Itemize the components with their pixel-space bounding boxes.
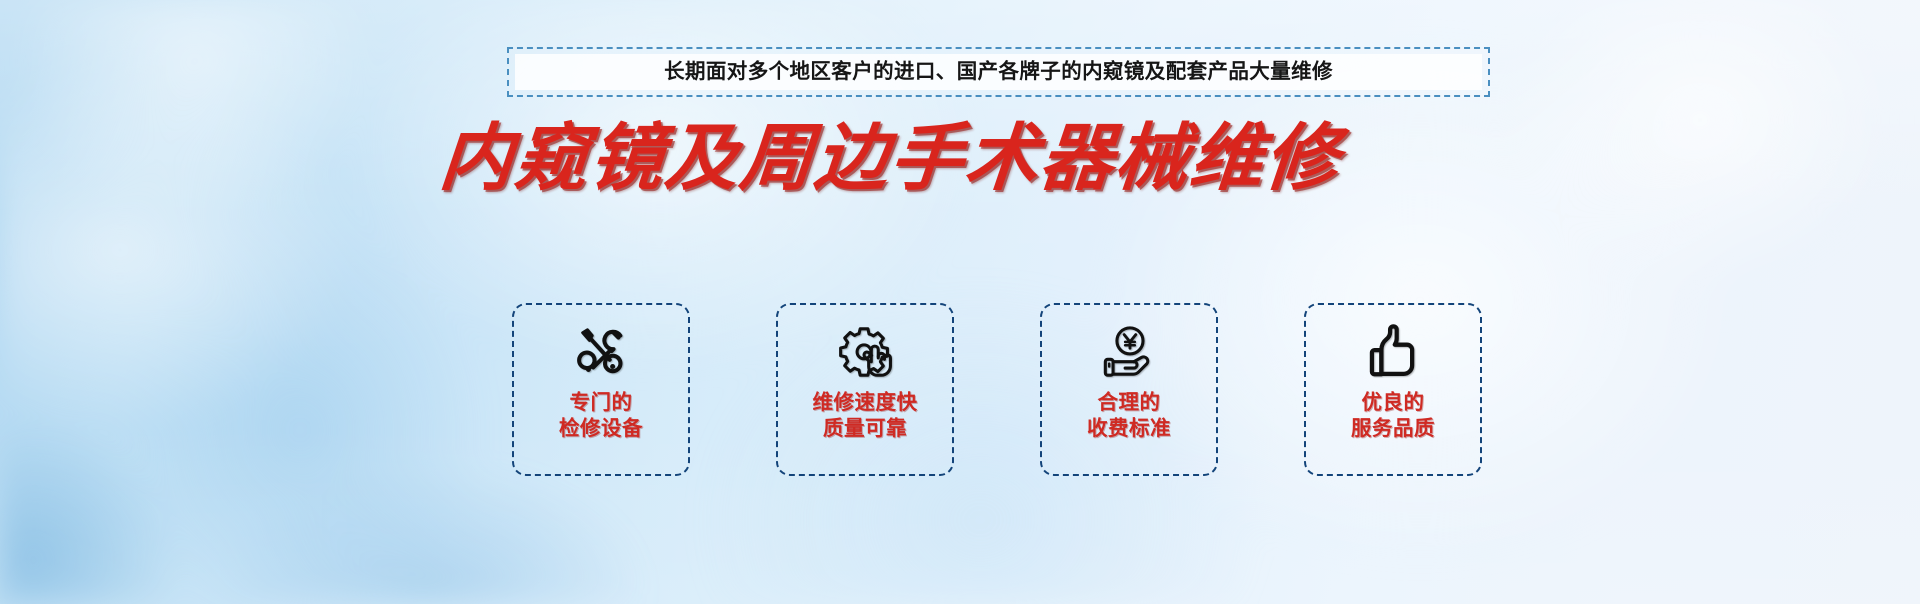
feature-card-speed-quality[interactable]: 维修速度快 质量可靠 (776, 303, 954, 476)
headline-container: 内窥镜及周边手术器械维修 (0, 118, 1920, 200)
gear-hand-pointer-icon (831, 322, 899, 384)
feature-label-line1: 维修速度快 (813, 390, 918, 416)
feature-label: 专门的 检修设备 (559, 390, 643, 442)
subtitle-inner-band: 长期面对多个地区客户的进口、国产各牌子的内窥镜及配套产品大量维修 (515, 54, 1482, 90)
feature-label-line2: 收费标准 (1087, 416, 1171, 442)
feature-label: 合理的 收费标准 (1087, 390, 1171, 442)
feature-label-line2: 服务品质 (1351, 416, 1435, 442)
feature-label-line1: 合理的 (1087, 390, 1171, 416)
subtitle-text: 长期面对多个地区客户的进口、国产各牌子的内窥镜及配套产品大量维修 (664, 62, 1333, 83)
subtitle-dashed-frame: 长期面对多个地区客户的进口、国产各牌子的内窥镜及配套产品大量维修 (507, 47, 1490, 97)
screwdriver-wrench-icon (567, 322, 635, 384)
feature-label-line2: 检修设备 (559, 416, 643, 442)
feature-card-service[interactable]: 优良的 服务品质 (1304, 303, 1482, 476)
feature-card-equipment[interactable]: 专门的 检修设备 (512, 303, 690, 476)
feature-label: 维修速度快 质量可靠 (813, 390, 918, 442)
feature-label-line1: 专门的 (559, 390, 643, 416)
feature-card-pricing[interactable]: 合理的 收费标准 (1040, 303, 1218, 476)
page-title: 内窥镜及周边手术器械维修 (436, 118, 1343, 200)
promo-banner: 长期面对多个地区客户的进口、国产各牌子的内窥镜及配套产品大量维修 内窥镜及周边手… (0, 0, 1920, 604)
feature-label-line1: 优良的 (1351, 390, 1435, 416)
feature-label-line2: 质量可靠 (813, 416, 918, 442)
feature-label: 优良的 服务品质 (1351, 390, 1435, 442)
thumbs-up-icon (1359, 322, 1427, 384)
banner-content: 长期面对多个地区客户的进口、国产各牌子的内窥镜及配套产品大量维修 内窥镜及周边手… (0, 0, 1920, 604)
hand-holding-yen-coin-icon (1095, 322, 1163, 384)
feature-card-row: 专门的 检修设备 (512, 303, 1482, 478)
